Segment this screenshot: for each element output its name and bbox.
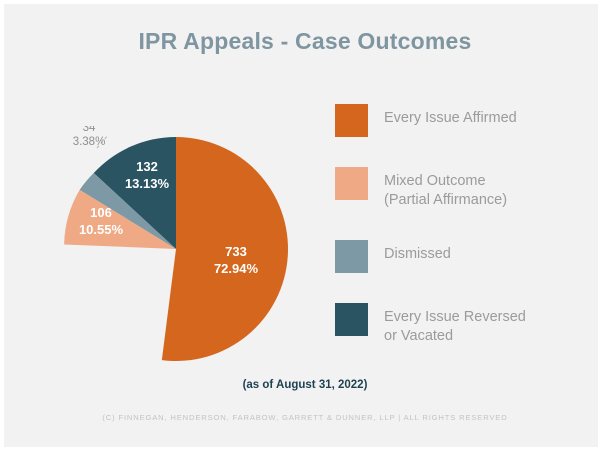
slice-label-value-affirmed: 733: [225, 244, 247, 259]
slice-label-value-mixed: 106: [90, 205, 112, 220]
legend-item-dismissed[interactable]: Dismissed: [335, 240, 585, 273]
pie-chart-svg: 733 72.94% 132 13.13% 106 10.55% 34 3.38…: [56, 126, 304, 374]
page-title: IPR Appeals - Case Outcomes: [4, 28, 602, 55]
slice-label-value-reversed: 132: [136, 159, 158, 174]
slide-canvas: IPR Appeals - Case Outcomes 733 72.94% 1…: [0, 0, 602, 451]
slice-label-percent-dismissed: 3.38%: [73, 136, 106, 148]
legend-swatch-every-issue-reversed: [335, 303, 368, 336]
slice-label-value-dismissed: 34: [83, 126, 96, 134]
legend-swatch-dismissed: [335, 240, 368, 273]
legend-item-every-issue-affirmed[interactable]: Every Issue Affirmed: [335, 104, 585, 137]
legend-label-dismissed: Dismissed: [384, 240, 451, 264]
slice-label-percent-reversed: 13.13%: [125, 176, 170, 191]
legend-item-mixed-outcome[interactable]: Mixed Outcome (Partial Affirmance): [335, 167, 585, 210]
legend-label-mixed-outcome: Mixed Outcome (Partial Affirmance): [384, 167, 507, 210]
legend-item-every-issue-reversed[interactable]: Every Issue Reversed or Vacated: [335, 303, 585, 346]
slice-label-percent-affirmed: 72.94%: [214, 261, 259, 276]
legend-swatch-every-issue-affirmed: [335, 104, 368, 137]
pie-chart: 733 72.94% 132 13.13% 106 10.55% 34 3.38…: [56, 126, 304, 374]
copyright-notice: (C) FINNEGAN, HENDERSON, FARABOW, GARRET…: [4, 413, 602, 422]
legend-label-every-issue-reversed: Every Issue Reversed or Vacated: [384, 303, 526, 346]
legend-swatch-mixed-outcome: [335, 167, 368, 200]
chart-legend: Every Issue Affirmed Mixed Outcome (Part…: [335, 104, 585, 376]
as-of-note: (as of August 31, 2022): [4, 379, 602, 391]
slice-label-percent-mixed: 10.55%: [79, 222, 124, 237]
legend-label-every-issue-affirmed: Every Issue Affirmed: [384, 104, 517, 128]
